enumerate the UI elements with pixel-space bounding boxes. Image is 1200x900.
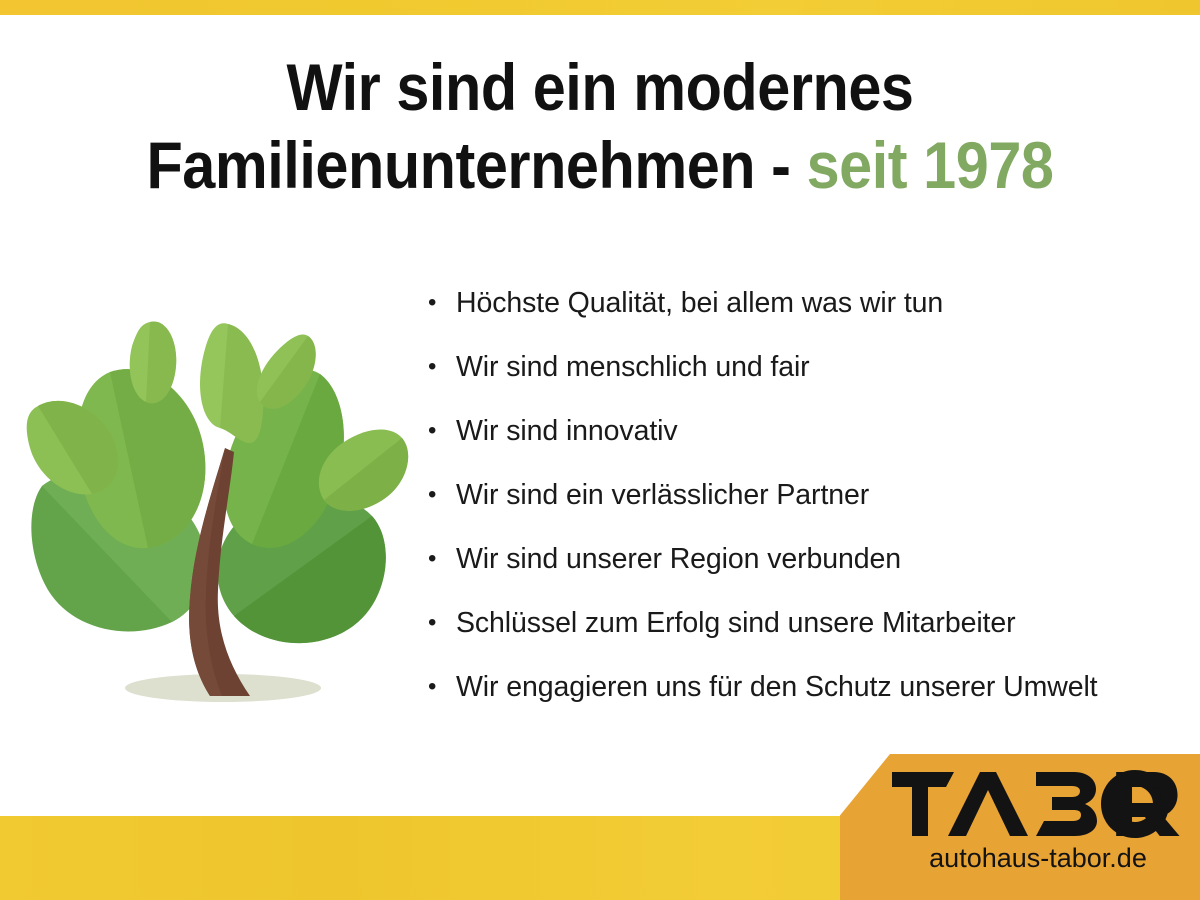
list-item: • Wir sind innovativ <box>428 414 1198 478</box>
list-item-label: Wir sind unserer Region verbunden <box>456 542 901 576</box>
tabor-wordmark <box>892 770 1184 838</box>
list-item-label: Höchste Qualität, bei allem was wir tun <box>456 286 943 320</box>
bullet-icon: • <box>428 419 456 443</box>
list-item: • Wir sind unserer Region verbunden <box>428 542 1198 606</box>
slide-canvas: Wir sind ein modernes Familienunternehme… <box>0 0 1200 900</box>
list-item-label: Wir sind menschlich und fair <box>456 350 810 384</box>
bullet-icon: • <box>428 483 456 507</box>
bullet-icon: • <box>428 675 456 699</box>
list-item-label: Wir engagieren uns für den Schutz unsere… <box>456 670 1098 704</box>
page-title-accent: seit 1978 <box>807 128 1054 202</box>
list-item-label: Wir sind ein verlässlicher Partner <box>456 478 869 512</box>
list-item: • Höchste Qualität, bei allem was wir tu… <box>428 286 1198 350</box>
bullet-icon: • <box>428 291 456 315</box>
list-item-label: Wir sind innovativ <box>456 414 678 448</box>
bullet-icon: • <box>428 547 456 571</box>
brand-logo-block[interactable]: autohaus-tabor.de <box>840 754 1200 900</box>
tree-illustration-svg <box>20 300 420 720</box>
bullet-icon: • <box>428 611 456 635</box>
list-item-label: Schlüssel zum Erfolg sind unsere Mitarbe… <box>456 606 1016 640</box>
list-item: • Schlüssel zum Erfolg sind unsere Mitar… <box>428 606 1198 670</box>
leaf-top-center <box>200 323 263 443</box>
tabor-wordmark-svg <box>892 770 1184 838</box>
tree-illustration <box>20 300 420 720</box>
page-title-line-1: Wir sind ein modernes <box>114 48 1086 126</box>
top-accent-bar <box>0 0 1200 15</box>
page-title: Wir sind ein modernes Familienunternehme… <box>114 48 1086 204</box>
values-bullet-list: • Höchste Qualität, bei allem was wir tu… <box>428 286 1198 734</box>
bullet-icon: • <box>428 355 456 379</box>
logo-url-text: autohaus-tabor.de <box>892 842 1184 874</box>
page-title-line-2: Familienunternehmen - seit 1978 <box>114 126 1086 204</box>
list-item: • Wir sind menschlich und fair <box>428 350 1198 414</box>
page-title-line-2-main: Familienunternehmen - <box>146 128 806 202</box>
list-item: • Wir sind ein verlässlicher Partner <box>428 478 1198 542</box>
list-item: • Wir engagieren uns für den Schutz unse… <box>428 670 1198 734</box>
